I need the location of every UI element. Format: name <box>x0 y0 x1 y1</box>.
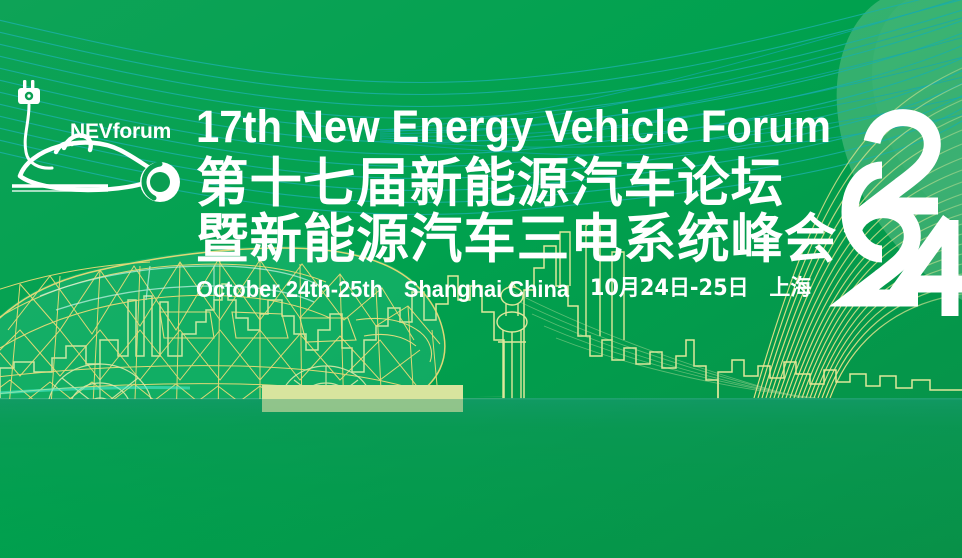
charging-cable-icon <box>25 105 52 168</box>
logo-wordmark: NEVforum <box>70 120 171 144</box>
wheel-icon <box>140 162 180 202</box>
title-block: 17th New Energy Vehicle Forum 第十七届新能源汽车论… <box>196 104 836 302</box>
location-chinese: 上海 <box>769 276 811 302</box>
logo-artwork <box>4 72 194 222</box>
date-english: October 24th-25th <box>196 276 383 302</box>
accent-bar-top <box>262 385 463 399</box>
title-chinese-line1: 第十七届新能源汽车论坛 <box>196 154 830 214</box>
year-badge-2024 <box>826 104 962 316</box>
dateline: October 24th-25th Shanghai China 10月24日-… <box>196 276 804 302</box>
location-english: Shanghai China <box>404 276 569 302</box>
ev-plug-icon <box>18 80 40 104</box>
title-chinese-line2: 暨新能源汽车三电系统峰会 <box>196 210 830 270</box>
nev-forum-poster: NEVforum 17th New Energy Vehicle Forum 第… <box>0 0 962 558</box>
accent-bar-reflection <box>262 399 463 412</box>
title-english: 17th New Energy Vehicle Forum <box>196 104 791 150</box>
date-chinese: 10月24日-25日 <box>590 276 749 302</box>
nev-forum-logo[interactable]: NEVforum <box>4 72 194 222</box>
year-artwork <box>826 104 962 316</box>
